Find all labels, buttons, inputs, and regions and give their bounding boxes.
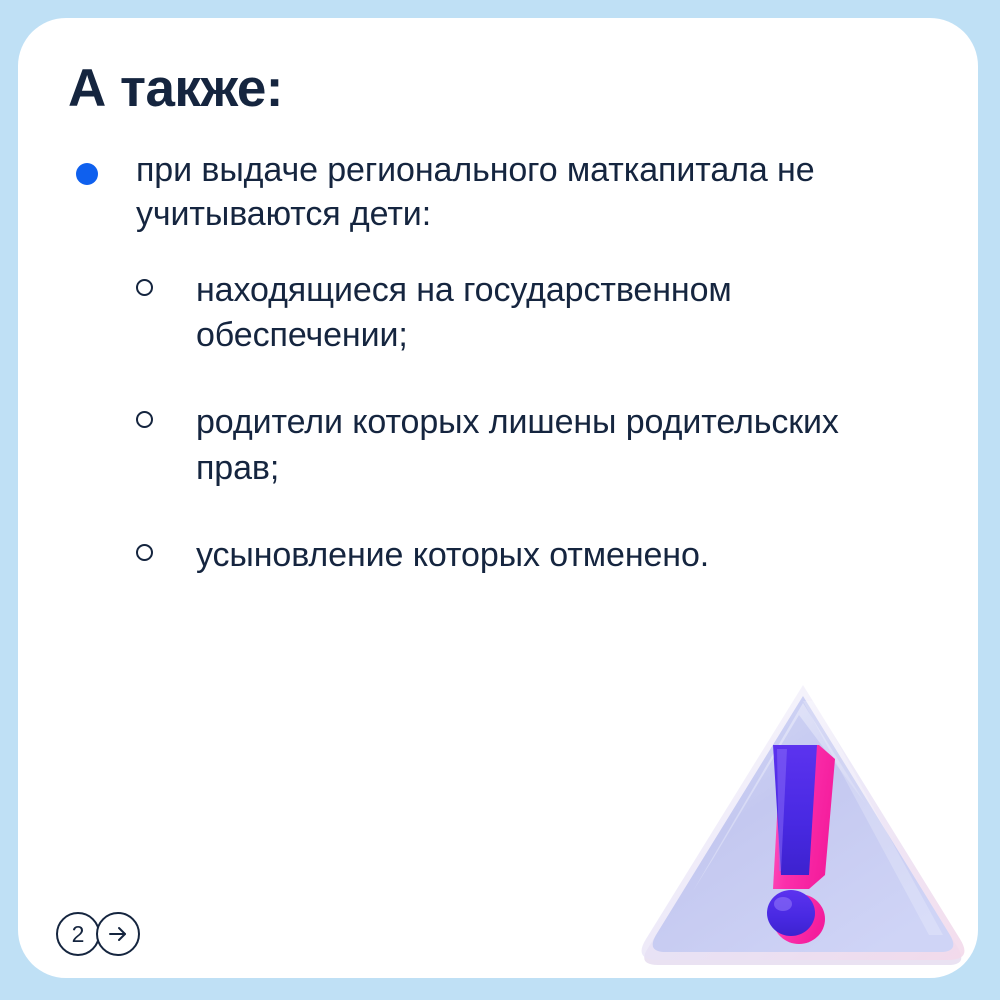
next-page-button[interactable] xyxy=(96,912,140,956)
bullet-dot-icon xyxy=(50,148,136,185)
list-item-label: находящиеся на государственном обеспечен… xyxy=(196,268,896,358)
list-item-label: усыновление которых отменено. xyxy=(196,533,709,578)
list-item-label: родители которых лишены родительских пра… xyxy=(196,400,896,490)
warning-triangle-3d-illustration xyxy=(603,663,978,978)
arrow-right-icon xyxy=(106,922,130,946)
hollow-circle-icon xyxy=(123,400,196,428)
hollow-circle-icon xyxy=(123,268,196,296)
page-number-badge: 2 xyxy=(56,912,100,956)
sub-bullet-list: находящиеся на государственном обеспечен… xyxy=(123,268,933,578)
list-item: находящиеся на государственном обеспечен… xyxy=(123,268,933,358)
list-item: родители которых лишены родительских пра… xyxy=(123,400,933,490)
hollow-circle-icon xyxy=(123,533,196,561)
list-item: усыновление которых отменено. xyxy=(123,533,933,578)
pagination: 2 xyxy=(56,912,140,956)
slide-card: А также: при выдаче регионального маткап… xyxy=(18,18,978,978)
page-title: А также: xyxy=(68,60,283,118)
main-bullet-text: при выдаче регионального маткапитала не … xyxy=(136,148,926,236)
main-bullet-item: при выдаче регионального маткапитала не … xyxy=(50,148,930,236)
